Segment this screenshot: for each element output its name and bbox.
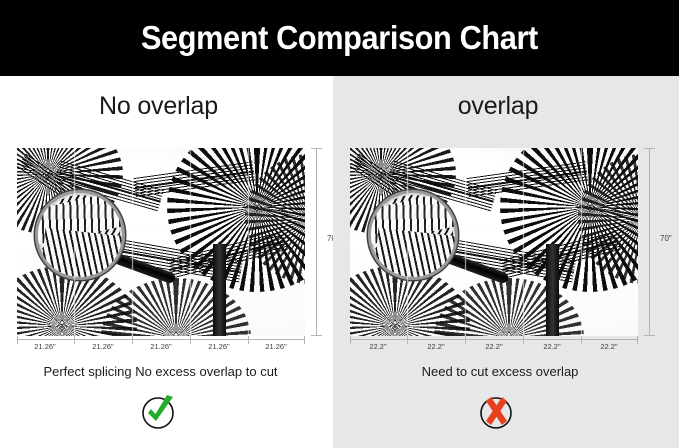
- panel-overlap: overlap: [333, 76, 679, 448]
- segment-label: 22.2": [427, 342, 444, 351]
- seam-line: [190, 148, 191, 336]
- segment-label: 21.26": [265, 342, 286, 351]
- magnifier-lens: [35, 190, 125, 280]
- figure-overlap: 70" 22.2" 22.2" 22.2" 22.2" 22.2": [350, 148, 638, 336]
- seam-line: [132, 148, 133, 336]
- segment-label: 21.26": [92, 342, 113, 351]
- dimension-tick: [248, 336, 249, 344]
- verdict-overlap: [323, 392, 669, 432]
- dimension-tick: [190, 336, 191, 344]
- dimension-tick: [132, 336, 133, 344]
- height-label-right: 70": [660, 234, 672, 243]
- caption-overlap: Need to cut excess overlap: [327, 364, 673, 379]
- seam-line: [523, 148, 524, 336]
- dimension-axis: [350, 339, 638, 340]
- palm-photo-overlap: [350, 148, 638, 336]
- dimension-cap-bottom: [644, 335, 655, 336]
- magnifier-lens: [368, 190, 458, 280]
- segment-label: 22.2": [485, 342, 502, 351]
- title-bar: Segment Comparison Chart: [0, 0, 679, 76]
- dimension-cap-bottom: [311, 335, 322, 336]
- verdict-no-overlap: [0, 392, 325, 432]
- page-title: Segment Comparison Chart: [141, 19, 538, 57]
- magnifier-icon: [368, 190, 458, 280]
- dimension-line: [316, 148, 317, 336]
- comparison-chart-page: Segment Comparison Chart No overlap: [0, 0, 679, 448]
- width-dimension-axis-right: 22.2" 22.2" 22.2" 22.2" 22.2": [350, 339, 638, 355]
- panel-heading-no-overlap: No overlap: [0, 92, 325, 121]
- seam-line: [74, 148, 75, 336]
- palm-trunk: [546, 244, 559, 336]
- dimension-tick: [74, 336, 75, 344]
- panel-no-overlap: No overlap: [0, 76, 333, 448]
- dimension-tick: [465, 336, 466, 344]
- dimension-tick: [17, 336, 18, 344]
- dimension-axis: [17, 339, 305, 340]
- panel-heading-overlap: overlap: [325, 92, 671, 121]
- height-dimension-line-right: [643, 148, 657, 336]
- dimension-tick: [350, 336, 351, 344]
- dimension-line: [649, 148, 650, 336]
- segment-label: 22.2": [369, 342, 386, 351]
- segment-label: 21.26": [208, 342, 229, 351]
- caption-no-overlap: Perfect splicing No excess overlap to cu…: [0, 364, 327, 379]
- dimension-tick: [637, 336, 638, 344]
- cross-icon: [476, 392, 516, 432]
- segment-label: 21.26": [34, 342, 55, 351]
- segment-label: 22.2": [600, 342, 617, 351]
- seam-line: [465, 148, 466, 336]
- height-dimension-line-left: [310, 148, 324, 336]
- seam-line: [581, 148, 582, 336]
- check-icon: [139, 392, 179, 432]
- palm-trunk: [213, 244, 226, 336]
- seam-line: [407, 148, 408, 336]
- palm-photo-no-overlap: [17, 148, 305, 336]
- seam-line: [248, 148, 249, 336]
- magnifier-icon: [35, 190, 125, 280]
- width-dimension-axis-left: 21.26" 21.26" 21.26" 21.26" 21.26": [17, 339, 305, 355]
- segment-label: 21.26": [150, 342, 171, 351]
- dimension-tick: [407, 336, 408, 344]
- segment-label: 22.2": [543, 342, 560, 351]
- dimension-tick: [304, 336, 305, 344]
- figure-no-overlap: 70" 21.26" 21.26" 21.26" 21.26" 21.26": [17, 148, 305, 336]
- dimension-tick: [581, 336, 582, 344]
- dimension-tick: [523, 336, 524, 344]
